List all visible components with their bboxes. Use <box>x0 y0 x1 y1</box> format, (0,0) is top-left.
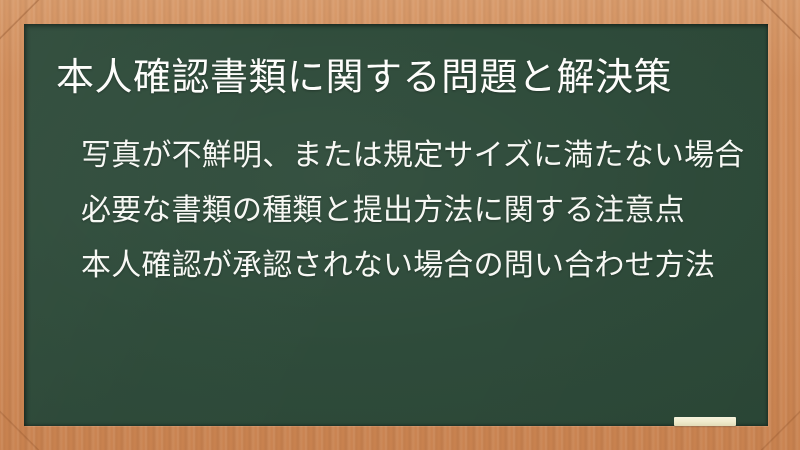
page-title: 本人確認書類に関する問題と解決策 <box>56 53 756 101</box>
list-item: 本人確認が承認されない場合の問い合わせ方法 <box>81 238 781 293</box>
chalkboard-surface: 本人確認書類に関する問題と解決策 写真が不鮮明、または規定サイズに満たない場合 … <box>24 24 768 426</box>
bullet-list: 写真が不鮮明、または規定サイズに満たない場合 必要な書類の種類と提出方法に関する… <box>81 128 781 293</box>
chalk-stick-icon <box>674 417 736 426</box>
list-item: 必要な書類の種類と提出方法に関する注意点 <box>81 183 781 238</box>
list-item: 写真が不鮮明、または規定サイズに満たない場合 <box>81 128 781 183</box>
chalkboard-slide: 本人確認書類に関する問題と解決策 写真が不鮮明、または規定サイズに満たない場合 … <box>0 0 800 450</box>
